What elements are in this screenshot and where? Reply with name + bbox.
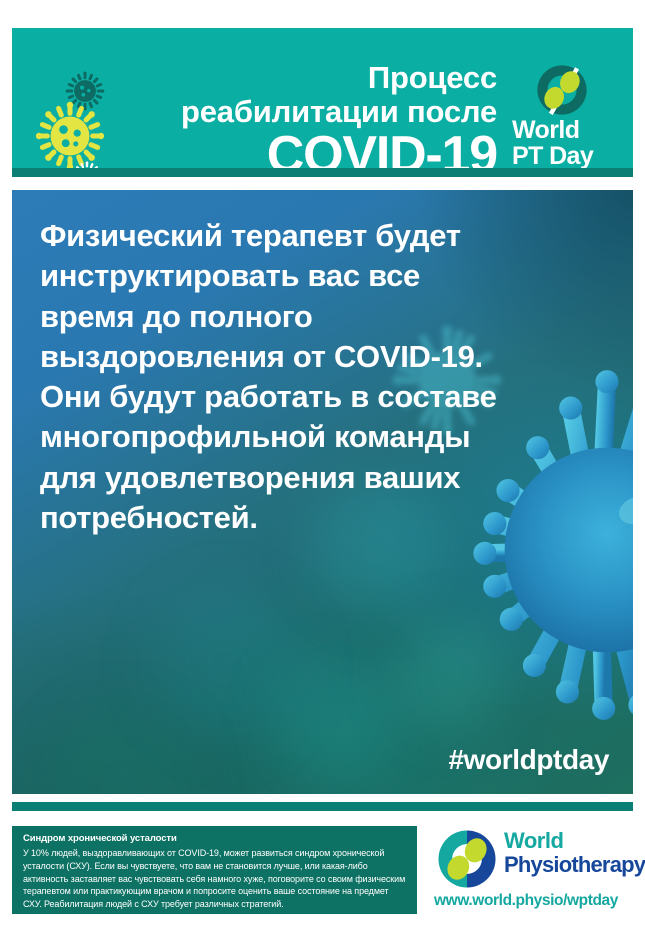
logo-line-world: World bbox=[512, 118, 630, 143]
title-line-3: COVID-19 bbox=[112, 129, 497, 168]
org-line-physiotherapy: Physiotherapy bbox=[504, 854, 645, 876]
poster-header: Процесс реабилитации после COVID-19 bbox=[12, 28, 633, 168]
world-pt-day-logo: World PT Day 2020 bbox=[512, 62, 630, 168]
logo-line-ptday: PT Day bbox=[512, 144, 630, 168]
chronic-fatigue-note-box: Синдром хронической усталости У 10% люде… bbox=[12, 826, 417, 914]
main-body-text: Физический терапевт будет инструктироват… bbox=[40, 216, 500, 538]
hashtag-label: #worldptday bbox=[448, 744, 609, 776]
poster-title: Процесс реабилитации после COVID-19 bbox=[112, 62, 497, 168]
note-body: У 10% людей, выздоравливающих от COVID-1… bbox=[23, 847, 407, 911]
footer-divider-bar bbox=[12, 802, 633, 811]
title-line-1: Процесс bbox=[112, 62, 497, 93]
world-physiotherapy-logo[interactable]: World Physiotherapy www.world.physio/wpt… bbox=[432, 824, 637, 916]
world-pt-day-wordmark: World PT Day 2020 bbox=[512, 118, 630, 168]
title-line-2: реабилитации после bbox=[112, 96, 497, 127]
poster-root: Процесс реабилитации после COVID-19 bbox=[0, 0, 645, 948]
world-pt-day-mark-icon bbox=[532, 62, 592, 118]
org-line-world: World bbox=[504, 830, 645, 852]
world-physiotherapy-wordmark: World Physiotherapy bbox=[504, 830, 645, 876]
header-underline-bar bbox=[12, 168, 633, 177]
bokeh-blob bbox=[272, 660, 392, 780]
poster-main-panel: Физический терапевт будет инструктироват… bbox=[12, 190, 633, 794]
world-physiotherapy-mark-icon bbox=[436, 828, 498, 890]
virus-icon-white bbox=[70, 160, 104, 168]
note-title: Синдром хронической усталости bbox=[23, 833, 407, 844]
virus-icon-lime bbox=[34, 100, 106, 168]
website-url[interactable]: www.world.physio/wptday bbox=[434, 892, 618, 910]
